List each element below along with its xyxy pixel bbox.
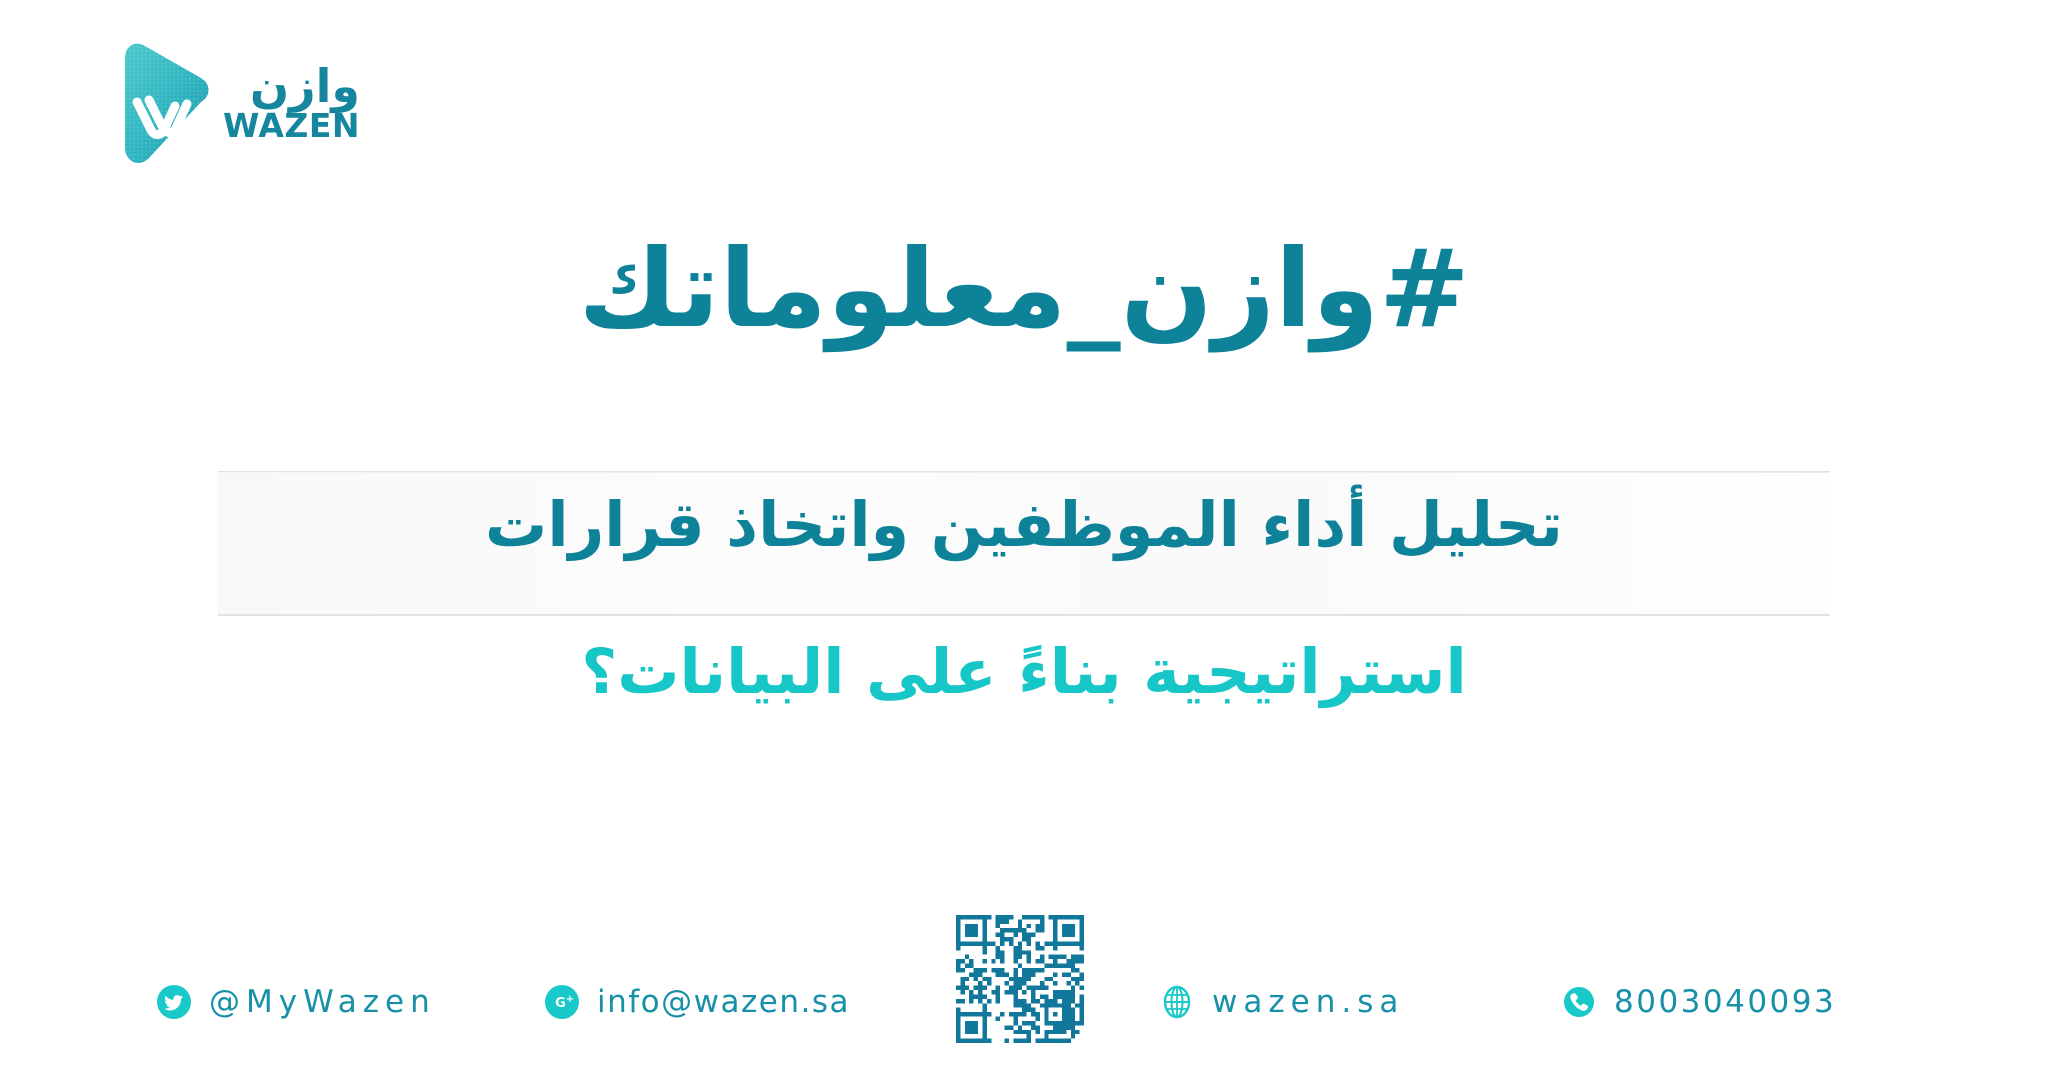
brand-name-ar: وازن [250,62,360,110]
globe-icon [1158,983,1196,1021]
brand-wordmark: وازن WAZEN [223,62,360,143]
contact-website[interactable]: wazen.sa [1158,978,1404,1026]
google-plus-icon: G + [543,983,581,1021]
contact-email-label: info@wazen.sa [597,984,850,1020]
divider-bottom [218,614,1830,616]
brand-name-en: WAZEN [223,109,360,142]
brand-logo[interactable]: وازن WAZEN [60,38,360,168]
contact-website-label: wazen.sa [1212,984,1404,1020]
contact-email[interactable]: G + info@wazen.sa [543,978,850,1026]
contact-twitter[interactable]: @MyWazen [155,978,436,1026]
poster-canvas: وازن WAZEN #وازن_معلوماتك تحليل أداء الم… [0,0,2048,1075]
svg-text:G: G [555,996,566,1011]
phone-icon [1560,983,1598,1021]
contact-twitter-label: @MyWazen [209,984,436,1020]
contact-phone-label: 8003040093 [1614,984,1836,1020]
headline-line-2: استراتيجية بناءً على البيانات؟ [0,635,2048,709]
footer-contact-bar: @MyWazen G + info@wazen.sa [0,978,2048,1038]
headline-line-1: تحليل أداء الموظفين واتخاذ قرارات [0,488,2048,562]
campaign-hashtag: #وازن_معلوماتك [0,228,2048,352]
svg-text:+: + [566,994,574,1005]
contact-phone[interactable]: 8003040093 [1560,978,1836,1026]
wazen-w-triangle-logo-icon [105,42,213,164]
twitter-icon [155,983,193,1021]
